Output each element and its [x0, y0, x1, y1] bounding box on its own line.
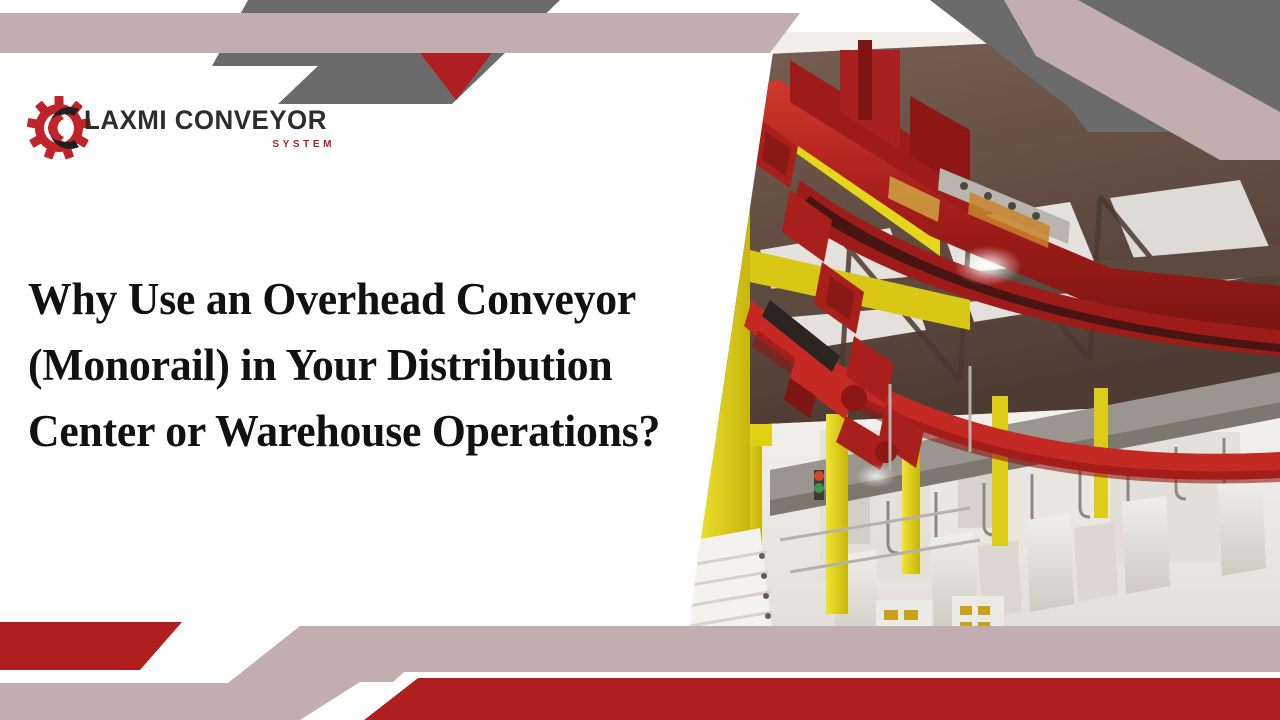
gear-logo-icon [26, 95, 92, 161]
bottom-white-separator [352, 672, 1280, 720]
page-title: Why Use an Overhead Conveyor (Monorail) … [28, 266, 668, 464]
bottom-left-red-parallelogram [0, 622, 182, 670]
brand-logo-text: LAXMI CONVEYOR SYSTEM [84, 107, 337, 150]
bottom-mauve-band [0, 626, 1280, 720]
top-red-triangle [420, 53, 492, 100]
overhead-monorail-conveyor-photo [640, 0, 1280, 720]
photo-illustration [640, 0, 1280, 720]
brand-name: LAXMI CONVEYOR [84, 107, 327, 134]
slide-canvas: LAXMI CONVEYOR SYSTEM Why Use an Overhea… [0, 0, 1280, 720]
brand-tagline: SYSTEM [84, 139, 337, 150]
bottom-right-red-band [364, 678, 1280, 720]
brand-logo[interactable]: LAXMI CONVEYOR SYSTEM [26, 92, 326, 164]
top-left-mauve-band [0, 13, 800, 53]
top-gray-parallelogram [212, 0, 560, 104]
